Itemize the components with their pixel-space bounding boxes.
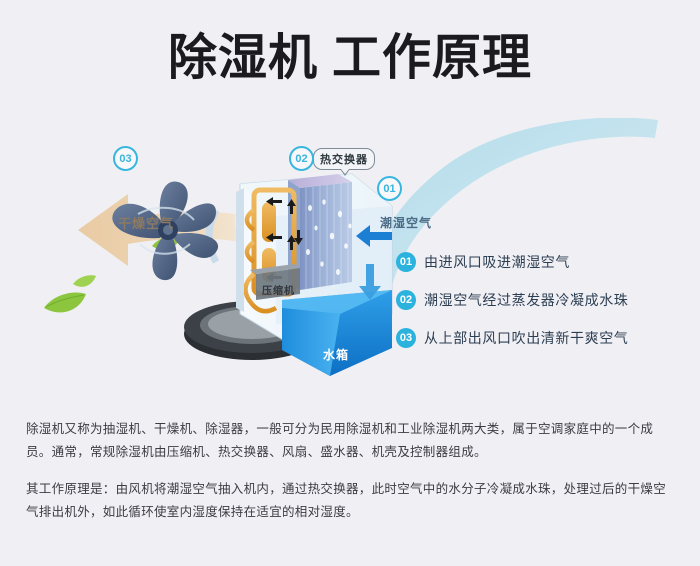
step-text-01: 由进风口吸进潮湿空气 [424,252,570,272]
step-badge-01: 01 [396,252,416,272]
infographic-page: 除湿机工作原理 [0,0,700,566]
diagram-badge-02: 02 [289,146,314,171]
label-compressor: 压缩机 [262,282,295,297]
list-item: 01 由进风口吸进潮湿空气 [396,252,628,272]
label-water-tank: 水箱 [323,346,349,363]
page-title: 除湿机工作原理 [0,32,700,86]
title-part-2: 工作原理 [332,31,532,85]
water-tank [282,290,392,376]
callout-heat-exchanger: 热交换器 [313,148,375,170]
steps-list: 01 由进风口吸进潮湿空气 02 潮湿空气经过蒸发器冷凝成水珠 03 从上部出风… [396,252,628,366]
description-paragraph-1: 除湿机又称为抽湿机、干燥机、除湿器，一般可分为民用除湿机和工业除湿机两大类，属于… [26,418,678,464]
step-text-03: 从上部出风口吹出清新干爽空气 [424,328,628,348]
leaf-icon [44,293,86,313]
leaf-icon [73,275,96,287]
label-humid-air: 潮湿空气 [380,214,432,231]
description-block: 除湿机又称为抽湿机、干燥机、除湿器，一般可分为民用除湿机和工业除湿机两大类，属于… [26,418,678,538]
list-item: 02 潮湿空气经过蒸发器冷凝成水珠 [396,290,628,310]
description-paragraph-2: 其工作原理是：由风机将潮湿空气抽入机内，通过热交换器，此时空气中的水分子冷凝成水… [26,478,678,524]
step-text-02: 潮湿空气经过蒸发器冷凝成水珠 [424,290,628,310]
label-dry-air: 干燥空气 [118,213,174,232]
diagram-badge-03: 03 [113,146,138,171]
step-badge-03: 03 [396,328,416,348]
title-part-1: 除湿机 [168,31,318,85]
diagram-badge-01: 01 [377,176,402,201]
list-item: 03 从上部出风口吹出清新干爽空气 [396,328,628,348]
step-badge-02: 02 [396,290,416,310]
